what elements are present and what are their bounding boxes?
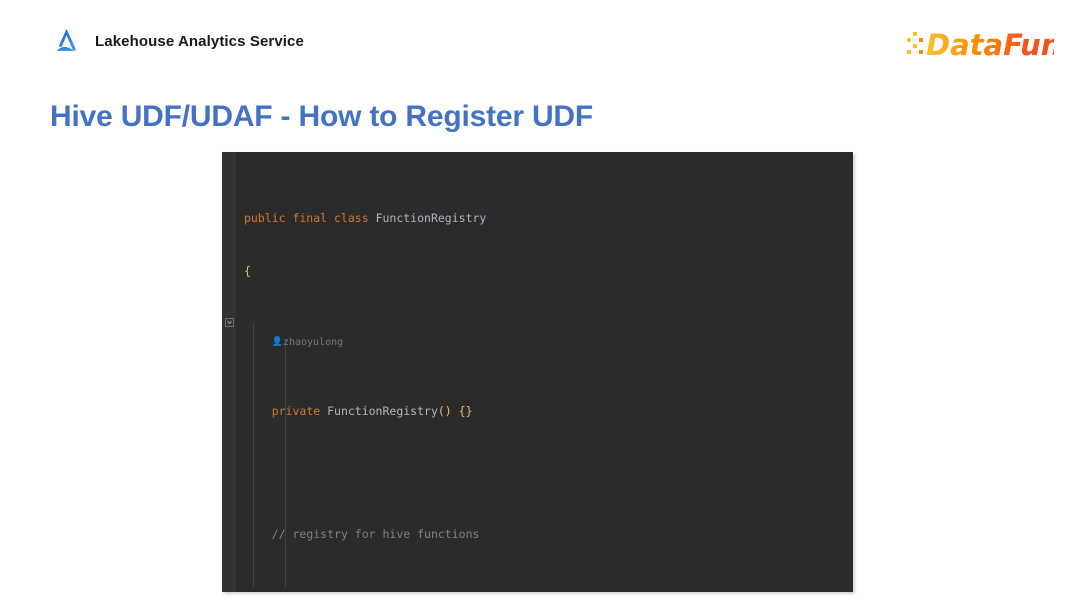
delta-triangle-logo-icon <box>52 26 82 56</box>
code-line <box>236 456 853 474</box>
datafun-logo-icon: DataFun. <box>906 28 1054 61</box>
code-line: private FunctionRegistry() {} <box>236 403 853 421</box>
slide-header: Lakehouse Analytics Service <box>52 26 304 56</box>
code-fold-arrow-icon[interactable] <box>225 318 234 327</box>
code-line: public final class FunctionRegistry <box>236 210 853 228</box>
page-title: Hive UDF/UDAF - How to Register UDF <box>50 100 593 134</box>
svg-text:DataFun.: DataFun. <box>926 28 1054 61</box>
code-line-author: 👤zhaoyulong <box>236 333 853 351</box>
code-line: { <box>236 263 853 281</box>
person-icon: 👤 <box>272 334 283 352</box>
code-screenshot: public final class FunctionRegistry { 👤z… <box>222 152 853 592</box>
author-annotation: zhaoyulong <box>283 337 343 348</box>
editor-gutter <box>222 152 236 592</box>
code-body[interactable]: public final class FunctionRegistry { 👤z… <box>236 152 853 592</box>
code-line-comment: // registry for hive functions <box>236 526 853 544</box>
brand-name: Lakehouse Analytics Service <box>95 33 304 50</box>
